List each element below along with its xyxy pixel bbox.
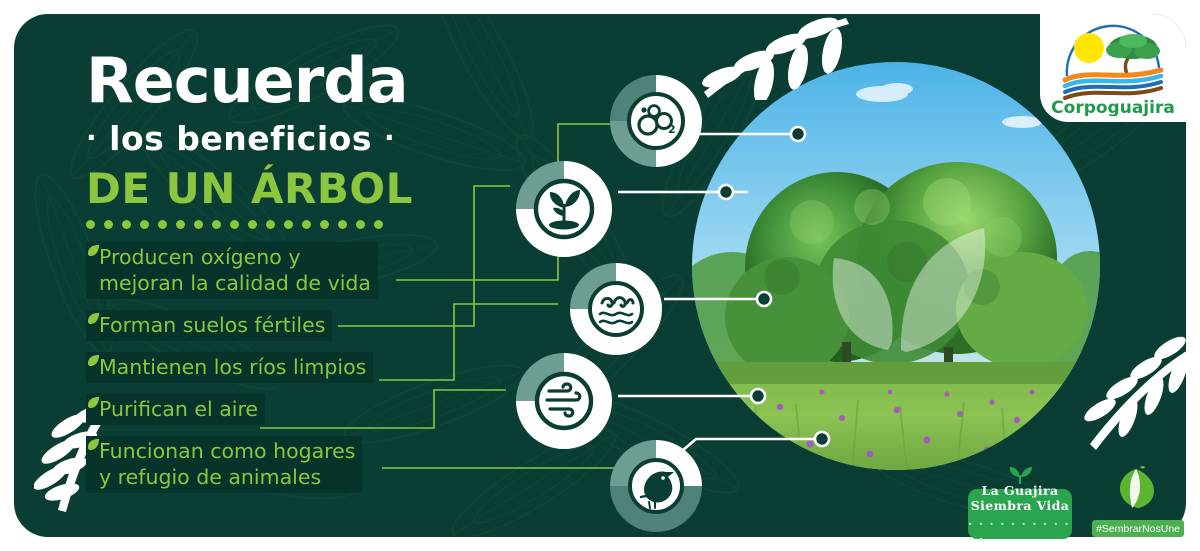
headline-dot — [338, 220, 347, 229]
bullet-dot-left: · — [86, 121, 97, 154]
headline-dot — [140, 220, 149, 229]
benefit-text: Mantienen los ríos limpios — [86, 352, 373, 383]
headline-dot — [194, 220, 203, 229]
benefits-list: Producen oxígeno y mejoran la calidad de… — [86, 242, 416, 504]
headline-dot — [104, 220, 113, 229]
headline-dot — [284, 220, 293, 229]
guajira-dots: · · · · · · · · · · · · — [968, 516, 1072, 546]
headline-dot — [356, 220, 365, 229]
benefit-text: Funcionan como hogares y refugio de anim… — [86, 436, 362, 493]
benefit-item-rivers: Mantienen los ríos limpios — [86, 352, 416, 383]
corpoguajira-logo[interactable]: Corpoguajira — [1040, 14, 1186, 122]
river-waves-icon — [1065, 70, 1161, 98]
headline-dot — [158, 220, 167, 229]
benefit-text: Purifican el aire — [86, 394, 265, 425]
leaf-bullet-icon — [87, 438, 100, 451]
headline-dot — [86, 220, 95, 229]
benefit-badge-oxygen[interactable]: 2 — [604, 69, 708, 173]
benefit-badge-animals[interactable] — [604, 434, 708, 537]
svg-text:2: 2 — [668, 123, 676, 136]
benefit-text: Forman suelos fértiles — [86, 310, 332, 341]
headline-beneficios-text: los beneficios — [109, 119, 372, 158]
headline-recuerda: Recuerda — [86, 52, 506, 111]
benefit-badge-air[interactable] — [509, 346, 619, 456]
benefit-text: Producen oxígeno y mejoran la calidad de… — [86, 242, 378, 299]
benefit-item-oxygen: Producen oxígeno y mejoran la calidad de… — [86, 242, 416, 299]
headline-beneficios: · los beneficios · — [86, 119, 506, 158]
leaf-bullet-icon — [87, 312, 100, 325]
headline-dot — [374, 220, 383, 229]
tree-icon — [1106, 34, 1160, 74]
leaf-bullet-icon — [87, 354, 100, 367]
guajira-line1: La Guajira — [981, 483, 1058, 498]
badge-ring — [570, 263, 662, 355]
sembrar-label: #SembrarNosUne — [1092, 520, 1184, 537]
colombia-map-icon — [1092, 466, 1184, 512]
headline-dot — [266, 220, 275, 229]
bullet-dot-right: · — [384, 121, 395, 154]
la-guajira-siembra-vida-badge[interactable]: La Guajira Siembra Vida · · · · · · · · … — [968, 466, 1072, 539]
main-panel: 2 — [14, 14, 1186, 537]
headline-dot — [248, 220, 257, 229]
headline-dot — [320, 220, 329, 229]
headline-arbol: DE UN ÁRBOL — [86, 164, 506, 213]
infographic-canvas: 2 — [0, 0, 1200, 551]
headline-dot — [302, 220, 311, 229]
leaf-bullet-icon — [87, 396, 100, 409]
sprout-icon — [968, 466, 1072, 484]
benefit-item-animals: Funcionan como hogares y refugio de anim… — [86, 436, 416, 493]
leaf-branch-icon-right — [1084, 326, 1186, 456]
leaf-bullet-icon — [87, 244, 100, 257]
headline-dot — [230, 220, 239, 229]
corpoguajira-wordmark: Corpoguajira — [1051, 98, 1175, 116]
headline-block: Recuerda · los beneficios · DE UN ÁRBOL — [86, 52, 506, 229]
headline-dot — [212, 220, 221, 229]
guajira-line2: Siembra Vida — [971, 498, 1070, 513]
benefit-item-soil: Forman suelos fértiles — [86, 310, 416, 341]
headline-dot — [122, 220, 131, 229]
benefit-item-air: Purifican el aire — [86, 394, 416, 425]
tree-meadow-photo — [692, 62, 1100, 470]
headline-dot-row — [86, 220, 506, 229]
benefit-badge-soil[interactable] — [509, 154, 619, 264]
headline-dot — [176, 220, 185, 229]
sun-icon — [1074, 33, 1104, 63]
sembrar-nos-une-badge[interactable]: #SembrarNosUne — [1092, 466, 1184, 537]
